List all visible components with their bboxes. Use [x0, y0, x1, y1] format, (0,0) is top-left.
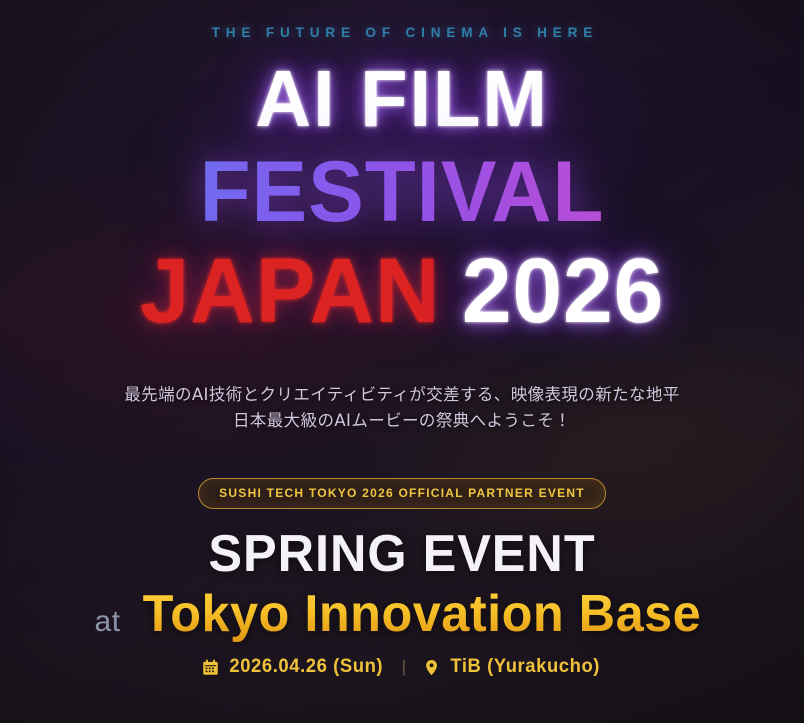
- event-meta-row: 2026.04.26 (Sun) | TiB (Yurakucho): [0, 656, 804, 678]
- partner-badge: SUSHI TECH TOKYO 2026 OFFICIAL PARTNER E…: [198, 478, 606, 509]
- title-japan: JAPAN: [140, 240, 441, 342]
- title-line-ai-film: AI FILM: [12, 56, 792, 142]
- venue-name: Tokyo Innovation Base: [142, 585, 701, 643]
- event-location-item: TiB (Yurakucho): [423, 656, 602, 678]
- calendar-icon: [202, 659, 219, 676]
- venue-prefix: at: [95, 605, 121, 639]
- event-date-text: 2026.04.26 (Sun): [229, 656, 383, 678]
- map-pin-icon: [423, 659, 440, 676]
- event-location-text: TiB (Yurakucho): [450, 656, 600, 678]
- meta-separator: |: [399, 657, 410, 677]
- hero-poster: THE FUTURE OF CINEMA IS HERE AI FILM FES…: [0, 0, 804, 723]
- subtitle-line-1: 最先端のAI技術とクリエイティビティが交差する、映像表現の新たな地平: [0, 382, 804, 408]
- title-year: 2026: [462, 240, 664, 342]
- venue-line: at Tokyo Innovation Base: [0, 585, 804, 643]
- tagline: THE FUTURE OF CINEMA IS HERE: [12, 24, 792, 40]
- partner-badge-wrap: SUSHI TECH TOKYO 2026 OFFICIAL PARTNER E…: [0, 478, 804, 509]
- hero-title-block: AI FILM FESTIVAL JAPAN2026: [0, 56, 804, 340]
- title-line-festival: FESTIVAL: [12, 146, 792, 238]
- event-heading: SPRING EVENT: [12, 524, 792, 584]
- subtitle-line-2: 日本最大級のAIムービーの祭典へようこそ！: [0, 408, 804, 434]
- subtitle-block: 最先端のAI技術とクリエイティビティが交差する、映像表現の新たな地平 日本最大級…: [0, 382, 804, 434]
- title-line-japan-2026: JAPAN2026: [12, 242, 792, 340]
- event-date-item: 2026.04.26 (Sun): [202, 656, 386, 678]
